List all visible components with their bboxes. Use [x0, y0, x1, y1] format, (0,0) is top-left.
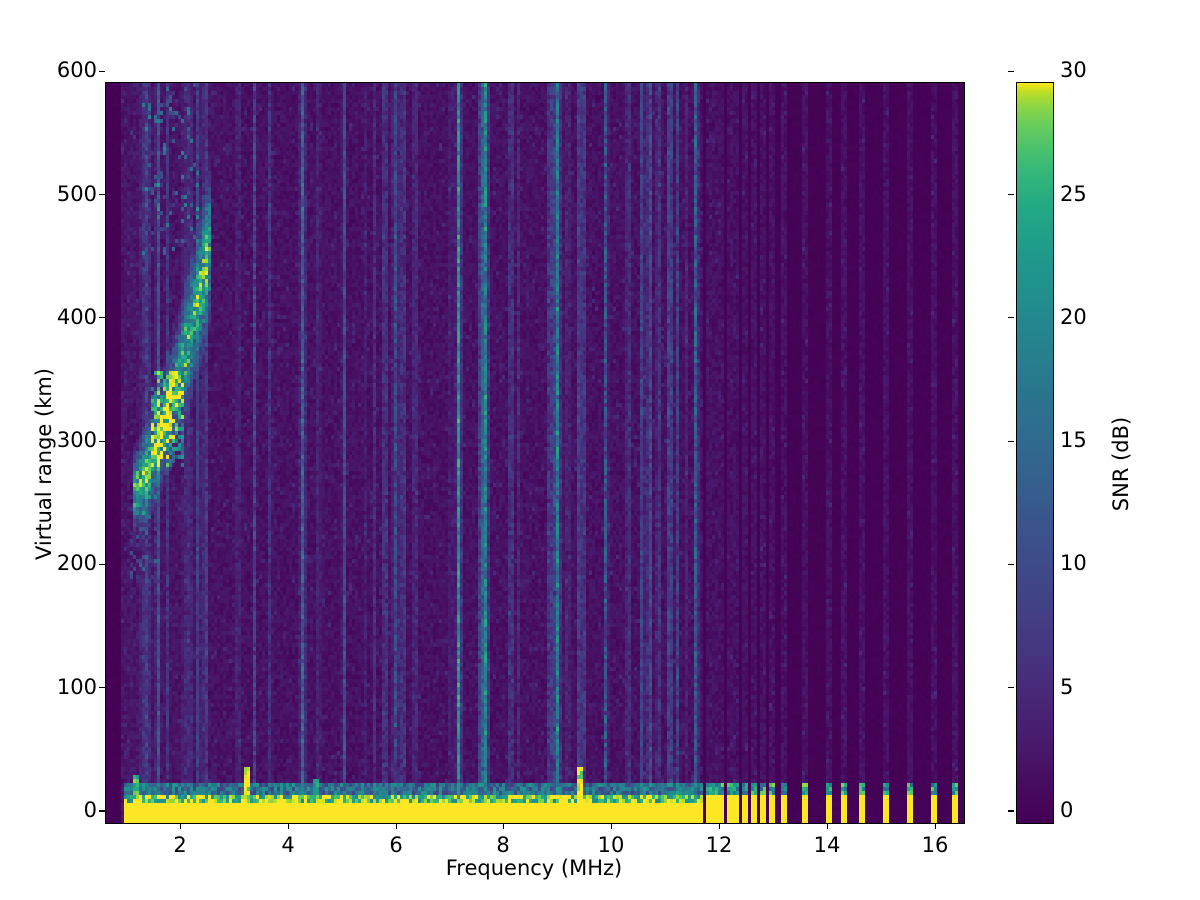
- x-tick-label-12: 12: [679, 833, 759, 857]
- ionogram-heatmap: [106, 83, 964, 823]
- colorbar-tick-label-25: 25: [1060, 182, 1087, 206]
- colorbar-tick-label-30: 30: [1060, 58, 1087, 82]
- x-tick-label-14: 14: [787, 833, 867, 857]
- x-tick-mark: [180, 823, 181, 829]
- x-tick-label-8: 8: [463, 833, 543, 857]
- colorbar-gradient: [1017, 83, 1053, 823]
- colorbar-tick-label-0: 0: [1060, 798, 1073, 822]
- x-tick-mark: [935, 823, 936, 829]
- y-tick-label-600: 600: [57, 58, 97, 82]
- y-tick-mark: [99, 71, 105, 72]
- y-tick-mark: [99, 687, 105, 688]
- y-tick-mark: [99, 810, 105, 811]
- y-tick-mark: [99, 194, 105, 195]
- x-tick-mark: [396, 823, 397, 829]
- y-tick-label-100: 100: [57, 675, 97, 699]
- y-tick-mark: [99, 564, 105, 565]
- colorbar-tick-label-15: 15: [1060, 428, 1087, 452]
- ionogram-figure: IRF Uppsala SDR Ionosonde UP158 2025-11-…: [0, 0, 1200, 900]
- colorbar-tick-mark: [1008, 317, 1014, 318]
- y-tick-label-500: 500: [57, 182, 97, 206]
- y-tick-label-300: 300: [57, 428, 97, 452]
- y-tick-mark: [99, 317, 105, 318]
- x-tick-mark: [503, 823, 504, 829]
- y-tick-label-200: 200: [57, 551, 97, 575]
- colorbar-tick-label-10: 10: [1060, 551, 1087, 575]
- y-axis-label: Virtual range (km): [32, 344, 56, 584]
- y-tick-mark: [99, 441, 105, 442]
- colorbar-tick-label-5: 5: [1060, 675, 1073, 699]
- colorbar-tick-mark: [1008, 687, 1014, 688]
- colorbar-label: SNR (dB): [1109, 344, 1133, 584]
- x-tick-mark: [827, 823, 828, 829]
- colorbar-tick-mark: [1008, 194, 1014, 195]
- colorbar-tick-mark: [1008, 71, 1014, 72]
- colorbar-tick-label-20: 20: [1060, 305, 1087, 329]
- colorbar-tick-mark: [1008, 810, 1014, 811]
- y-tick-label-400: 400: [57, 305, 97, 329]
- y-tick-label-0: 0: [84, 798, 97, 822]
- x-tick-label-16: 16: [895, 833, 975, 857]
- x-tick-mark: [288, 823, 289, 829]
- ionogram-plot-area: [105, 82, 965, 824]
- x-tick-label-10: 10: [571, 833, 651, 857]
- x-tick-label-2: 2: [140, 833, 220, 857]
- x-tick-mark: [719, 823, 720, 829]
- x-axis-label: Frequency (MHz): [105, 856, 963, 880]
- x-tick-label-4: 4: [248, 833, 328, 857]
- colorbar-tick-mark: [1008, 564, 1014, 565]
- colorbar: [1016, 82, 1054, 824]
- x-tick-label-6: 6: [356, 833, 436, 857]
- x-tick-mark: [611, 823, 612, 829]
- colorbar-tick-mark: [1008, 441, 1014, 442]
